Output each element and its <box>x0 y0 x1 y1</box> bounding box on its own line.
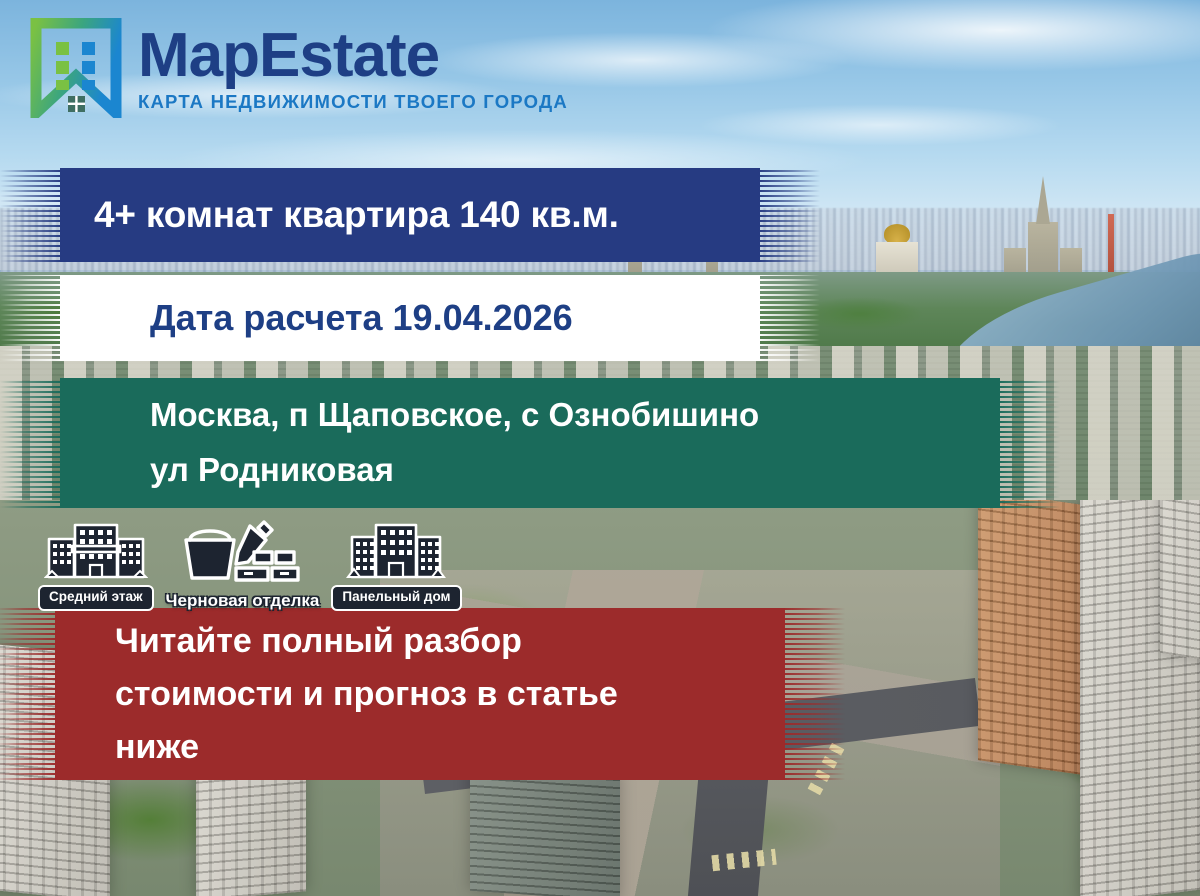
brand-header: MapEstate КАРТА НЕДВИЖИМОСТИ ТВОЕГО ГОРО… <box>0 0 1200 136</box>
cta-line-3: ниже <box>115 722 785 773</box>
address-banner: Москва, п Щаповское, с Ознобишино ул Род… <box>60 378 1000 508</box>
badge-label-rough-finish: Черновая отделка <box>166 590 320 611</box>
paint-bucket-trowel-icon <box>178 518 306 588</box>
skyscraper-spire-icon <box>1036 176 1050 224</box>
brand-tagline: КАРТА НЕДВИЖИМОСТИ ТВОЕГО ГОРОДА <box>138 93 568 112</box>
cta-line-2: стоимости и прогноз в статье <box>115 669 785 720</box>
bookmark-building-logo-icon[interactable] <box>30 18 122 118</box>
calculation-date-text: Дата расчета 19.04.2026 <box>150 297 760 339</box>
address-line-2: ул Родниковая <box>150 448 1000 493</box>
property-banner: 4+ комнат квартира 140 кв.м. <box>60 168 760 262</box>
brand-title: MapEstate <box>138 25 568 87</box>
panel-house-icon <box>344 521 448 583</box>
address-line-1: Москва, п Щаповское, с Ознобишино <box>150 393 1000 438</box>
feature-badges: Средний этаж <box>38 518 462 611</box>
window-icon <box>68 96 85 112</box>
chimney-stack-icon <box>1108 214 1114 280</box>
badge-rough-finish: Черновая отделка <box>166 518 320 611</box>
badge-label-panel-house: Панельный дом <box>331 585 461 611</box>
badge-panel-house: Панельный дом <box>331 521 461 611</box>
foreground-tower-far-right <box>1160 500 1200 667</box>
cta-banner: Читайте полный разбор стоимости и прогно… <box>55 608 785 780</box>
property-banner-text: 4+ комнат квартира 140 кв.м. <box>94 194 760 236</box>
calculation-date-banner: Дата расчета 19.04.2026 <box>60 275 760 361</box>
badge-mid-floor: Средний этаж <box>38 521 154 611</box>
cta-line-1: Читайте полный разбор <box>115 616 785 667</box>
foreground-tower-center <box>470 763 620 896</box>
mid-floor-buildings-icon <box>44 521 148 583</box>
badge-label-mid-floor: Средний этаж <box>38 585 154 611</box>
promo-poster: MapEstate КАРТА НЕДВИЖИМОСТИ ТВОЕГО ГОРО… <box>0 0 1200 896</box>
golden-dome-icon <box>884 224 910 244</box>
